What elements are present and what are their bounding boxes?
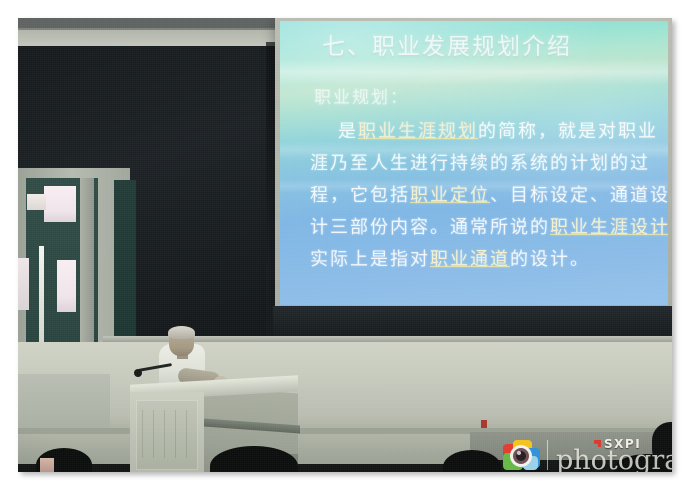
slide-subtitle: 职业规划： [314,83,409,108]
slide-body-line: 涯乃至人生进行持续的系统的计划的过 [310,153,650,175]
stage-outlet [481,420,487,428]
screenshot-root: 七、职业发展规划介绍 职业规划： 是职业生涯规划的简称，就是对职业 涯乃至人生进… [0,0,692,496]
stage-front [18,342,672,434]
slide-title: 七、职业发展规划介绍 [322,33,572,61]
watermark: SXPI photography [501,432,671,472]
board-below-screen [273,306,672,338]
lectern-vents [142,410,192,458]
watermark-divider [547,440,548,470]
wall-notice [57,260,76,312]
logo-lens-glint [517,451,521,455]
door-light-tube [39,246,44,354]
projected-slide: 七、职业发展规划介绍 职业规划： 是职业生涯规划的简称，就是对职业 涯乃至人生进… [280,21,668,305]
wall-notice [27,194,46,210]
wall-poster [40,458,54,472]
watermark-text: SXPI photography [554,437,672,473]
photo-frame: 七、职业发展规划介绍 职业规划： 是职业生涯规划的简称，就是对职业 涯乃至人生进… [18,18,672,472]
projection-screen: 七、职业发展规划介绍 职业规划： 是职业生涯规划的简称，就是对职业 涯乃至人生进… [275,18,672,310]
slide-text-layer: 七、职业发展规划介绍 职业规划： 是职业生涯规划的简称，就是对职业 涯乃至人生进… [280,21,668,305]
slide-body-line: 是职业生涯规划的简称，就是对职业 [338,121,658,143]
watermark-word: photography [556,447,672,473]
camera-logo-icon [501,438,541,472]
wall-notice [44,186,76,222]
slide-body-line: 计三部份内容。通常所说的职业生涯设计 [310,217,668,239]
slide-body-line: 实际上是指对职业通道的设计。 [310,249,590,271]
microphone-capsule [134,369,142,377]
speaker-hair [168,326,195,339]
wall-notice [18,258,29,310]
slide-body-line: 程，它包括职业定位、目标设定、通道设 [310,185,668,207]
